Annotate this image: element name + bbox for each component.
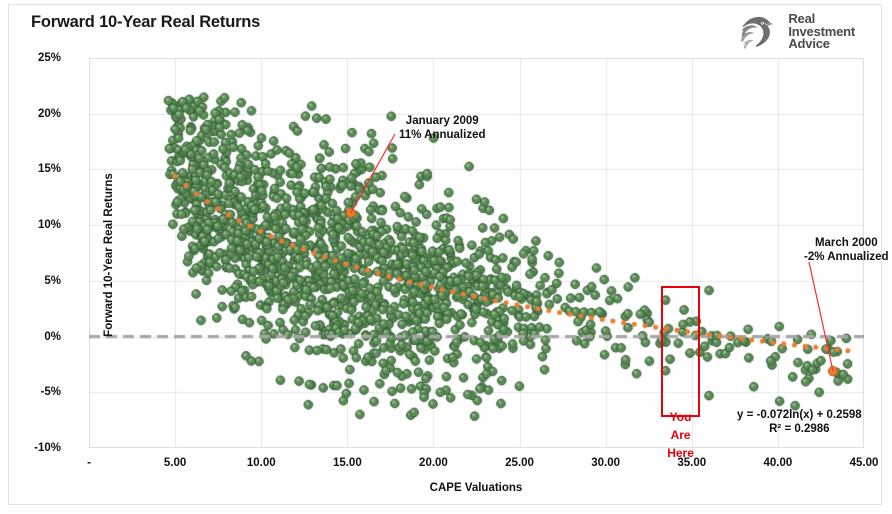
eagle-head-icon: [739, 12, 781, 52]
you-are-here-line-1: You Are: [659, 408, 703, 444]
logo-line-3: Advice: [788, 38, 855, 51]
y-axis-tick: -5%: [41, 386, 61, 398]
y-axis-tick: 10%: [38, 219, 61, 231]
january-2009-annotation: January 2009 11% Annualized: [399, 115, 486, 142]
x-axis-tick: 45.00: [850, 457, 879, 469]
y-axis-tick: 0%: [44, 331, 61, 343]
y-axis-tick: -10%: [34, 442, 61, 454]
y-axis-tick: 20%: [38, 108, 61, 120]
x-axis-tick: 25.00: [505, 457, 534, 469]
x-axis-tick: 15.00: [333, 457, 362, 469]
trendline-equation: y = -0.072ln(x) + 0.2598 R² = 0.2986: [737, 408, 862, 436]
march-2000-value: -2% Annualized: [804, 251, 889, 265]
y-axis-tick: 5%: [44, 275, 61, 287]
march-2000-label: March 2000: [804, 237, 889, 251]
y-axis-tick: 25%: [38, 52, 61, 64]
x-axis-tick: 20.00: [419, 457, 448, 469]
x-axis-title: CAPE Valuations: [430, 482, 523, 494]
x-axis-tick: 5.00: [164, 457, 186, 469]
r-squared-text: R² = 0.2986: [737, 422, 862, 436]
x-axis-tick: -: [87, 457, 91, 469]
logo-wordmark: Real Investment Advice: [788, 13, 855, 51]
march-2000-annotation: March 2000 -2% Annualized: [804, 237, 889, 264]
you-are-here-line-2: Here: [659, 444, 703, 462]
x-axis-tick: 40.00: [763, 457, 792, 469]
brand-logo: Real Investment Advice: [739, 11, 855, 53]
chart-frame: Forward 10-Year Real Returns Real Invest…: [8, 4, 882, 505]
january-2009-label: January 2009: [399, 115, 486, 129]
y-axis-tick: 15%: [38, 163, 61, 175]
x-axis-tick: 10.00: [247, 457, 276, 469]
you-are-here-label: You Are Here: [659, 408, 703, 462]
page-title: Forward 10-Year Real Returns: [31, 13, 260, 32]
january-2009-value: 11% Annualized: [399, 129, 486, 143]
equation-text: y = -0.072ln(x) + 0.2598: [737, 408, 862, 422]
x-axis-tick: 30.00: [591, 457, 620, 469]
you-are-here-box: [661, 286, 701, 416]
y-axis-title: Forward 10-Year Real Returns: [103, 173, 115, 337]
